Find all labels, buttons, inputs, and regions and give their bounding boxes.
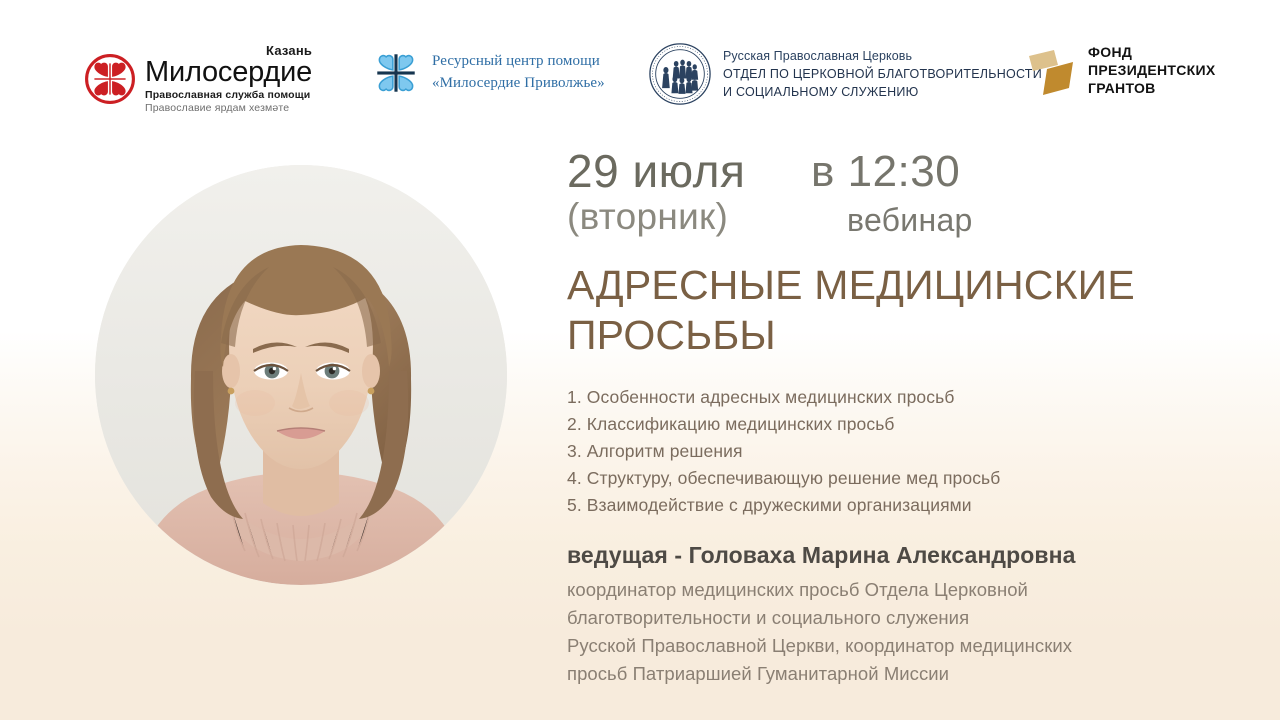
presenter-bio-line: просьб Патриаршией Гуманитарной Миссии xyxy=(567,660,1227,688)
event-title: АДРЕСНЫЕ МЕДИЦИНСКИЕ ПРОСЬБЫ xyxy=(567,260,1227,360)
logo-miloserdie-tagline-ru: Православная служба помощи xyxy=(145,89,312,102)
presenter-name: ведущая - Головаха Марина Александровна xyxy=(567,541,1227,571)
agenda-item: 1. Особенности адресных медицинских прос… xyxy=(567,384,1227,411)
agenda-item: 3. Алгоритм решения xyxy=(567,438,1227,465)
agenda-item: 2. Классификацию медицинских просьб xyxy=(567,411,1227,438)
logo-church-line3: И СОЦИАЛЬНОМУ СЛУЖЕНИЮ xyxy=(723,83,1042,101)
presenter-portrait-illustration xyxy=(95,165,507,585)
presenter-bio-line: координатор медицинских просьб Отдела Це… xyxy=(567,576,1227,604)
event-content: 29 июля в 12:30 (вторник) вебинар АДРЕСН… xyxy=(567,148,1227,688)
presenter-bio: координатор медицинских просьб Отдела Це… xyxy=(567,576,1227,688)
presenter-photo xyxy=(95,165,507,585)
logo-church-line2: ОТДЕЛ ПО ЦЕРКОВНОЙ БЛАГОТВОРИТЕЛЬНОСТИ xyxy=(723,65,1042,83)
agenda-list: 1. Особенности адресных медицинских прос… xyxy=(567,384,1227,519)
logo-miloserdie-tagline-tt: Православие ярдам хезмәте xyxy=(145,102,312,115)
presenter-bio-line: благотворительности и социального служен… xyxy=(567,604,1227,632)
logo-grants-line2: ПРЕЗИДЕНТСКИХ xyxy=(1088,62,1216,80)
logo-grants-line1: ФОНД xyxy=(1088,44,1216,62)
agenda-item: 4. Структуру, обеспечивающую решение мед… xyxy=(567,465,1227,492)
logo-presidential-grants-fund: ФОНД ПРЕЗИДЕНТСКИХ ГРАНТОВ xyxy=(1027,44,1216,98)
gold-parallelogram-icon xyxy=(1027,45,1077,97)
logo-grants-line3: ГРАНТОВ xyxy=(1088,80,1216,98)
logo-resource-line1: Ресурсный центр помощи xyxy=(432,51,605,73)
logo-resource-line2: «Милосердие Приволжье» xyxy=(432,73,605,95)
blue-four-hearts-cross-icon xyxy=(370,47,422,99)
event-date: 29 июля xyxy=(567,148,745,194)
event-datetime-block: 29 июля в 12:30 (вторник) вебинар xyxy=(567,148,1227,258)
logo-miloserdie-kazan: Казань Милосердие Православная служба по… xyxy=(84,44,312,115)
presenter-bio-line: Русской Православной Церкви, координатор… xyxy=(567,632,1227,660)
logo-church-line1: Русская Православная Церковь xyxy=(723,47,1042,66)
event-kind: вебинар xyxy=(847,204,973,236)
logo-strip: Казань Милосердие Православная служба по… xyxy=(0,0,1280,140)
event-weekday: (вторник) xyxy=(567,198,728,235)
logo-resource-center: Ресурсный центр помощи «Милосердие Приво… xyxy=(370,47,605,99)
agenda-item: 5. Взаимодействие с дружескими организац… xyxy=(567,492,1227,519)
logo-orthodox-church-department: Русская Православная Церковь ОТДЕЛ ПО ЦЕ… xyxy=(648,42,1042,106)
logo-miloserdie-name: Милосердие xyxy=(145,57,312,87)
red-heart-cross-circle-icon xyxy=(84,53,136,105)
church-seal-icon xyxy=(648,42,712,106)
event-time: в 12:30 xyxy=(811,150,960,194)
